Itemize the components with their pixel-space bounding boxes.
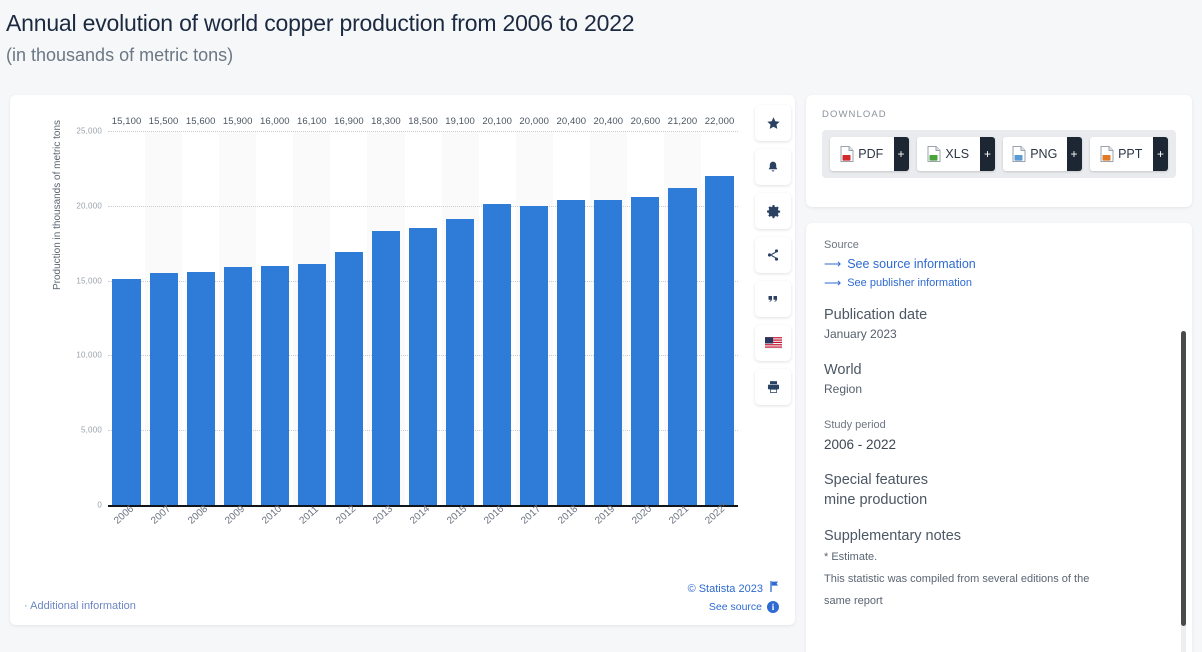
bar-value-label: 20,400 (594, 116, 624, 127)
x-axis-slot: 2017 (516, 511, 553, 557)
bar-slot: 15,100 (108, 131, 145, 505)
bar-value-label: 15,900 (223, 116, 253, 127)
publication-date-label: Publication date (824, 305, 1172, 325)
quote-icon[interactable] (755, 281, 791, 317)
bar-slot: 20,600 (627, 131, 664, 505)
arrow-right-icon: ⟶ (824, 277, 841, 289)
download-ppt-main[interactable]: PPT (1090, 137, 1154, 171)
bar-value-label: 18,500 (408, 116, 438, 127)
publication-date-block: Publication date January 2023 (824, 305, 1172, 344)
bar-slot: 20,400 (590, 131, 627, 505)
x-axis-slot: 2009 (219, 511, 256, 557)
bar[interactable]: 16,900 (335, 252, 363, 505)
bar-value-label: 20,400 (556, 116, 586, 127)
download-xls-plus[interactable]: + (980, 137, 995, 171)
info-scrollbar-thumb[interactable] (1181, 331, 1186, 626)
download-png-label: PNG (1030, 147, 1057, 161)
download-pdf-plus[interactable]: + (894, 137, 909, 171)
supplementary-notes-block: Supplementary notes * Estimate. This sta… (824, 526, 1172, 612)
copyright-label: © Statista 2023 (688, 583, 763, 595)
bar-slot: 21,200 (664, 131, 701, 505)
chart-footer: © Statista 2023 See source i (688, 581, 779, 613)
download-xls-main[interactable]: XLS (917, 137, 981, 171)
bar[interactable]: 15,600 (187, 272, 215, 505)
x-axis-slot: 2020 (627, 511, 664, 557)
download-xls-button[interactable]: XLS+ (917, 137, 996, 171)
special-features-block: Special features mine production (824, 470, 1172, 510)
share-icon[interactable] (755, 237, 791, 273)
region-label: Region (824, 380, 1172, 399)
x-axis-slot: 2012 (330, 511, 367, 557)
chart-card: Production in thousands of metric tons 0… (10, 95, 795, 625)
bar[interactable]: 20,000 (520, 206, 548, 505)
bell-icon[interactable] (755, 149, 791, 185)
bar-value-label: 15,100 (112, 116, 142, 127)
study-period-value: 2006 - 2022 (824, 435, 1172, 454)
bar-series: 15,10015,50015,60015,90016,00016,10016,9… (108, 131, 738, 505)
flag-us-icon[interactable] (755, 325, 791, 361)
download-ppt-plus[interactable]: + (1153, 137, 1168, 171)
statista-chart-page: Annual evolution of world copper product… (0, 0, 1202, 652)
info-scrollbar-track[interactable] (1181, 331, 1186, 652)
x-axis-slot: 2016 (479, 511, 516, 557)
bar-value-label: 16,900 (334, 116, 364, 127)
x-axis-slot: 2013 (367, 511, 404, 557)
bar-slot: 20,100 (479, 131, 516, 505)
supplementary-note-line-2: same report (824, 590, 1172, 612)
supplementary-notes-label: Supplementary notes (824, 526, 1172, 546)
x-axis-slot: 2010 (256, 511, 293, 557)
bar-value-label: 22,000 (705, 116, 735, 127)
bar-slot: 18,500 (405, 131, 442, 505)
bar-slot: 20,400 (553, 131, 590, 505)
flag-icon[interactable] (770, 581, 779, 595)
x-axis-slot: 2011 (293, 511, 330, 557)
bar[interactable]: 20,400 (594, 200, 622, 505)
additional-information-label: Additional information (30, 600, 136, 612)
info-icon[interactable]: i (767, 601, 779, 613)
print-icon[interactable] (755, 369, 791, 405)
download-heading: DOWNLOAD (822, 109, 1176, 120)
bar[interactable]: 20,100 (483, 204, 511, 505)
see-source-label: See source (709, 601, 762, 613)
download-pdf-main[interactable]: PDF (830, 137, 894, 171)
page-subtitle: (in thousands of metric tons) (6, 42, 1202, 68)
bar[interactable]: 19,100 (446, 219, 474, 505)
bar[interactable]: 15,100 (112, 279, 140, 505)
bar-value-label: 20,100 (482, 116, 512, 127)
y-axis-tick-label: 10,000 (76, 351, 102, 360)
x-axis-slot: 2021 (664, 511, 701, 557)
special-features-value: mine production (824, 490, 1172, 510)
favorite-star-button[interactable] (755, 105, 791, 141)
region-block: World Region (824, 360, 1172, 399)
x-axis-slot: 2006 (108, 511, 145, 557)
bar-value-label: 20,000 (519, 116, 549, 127)
arrow-right-icon: ⟶ (824, 258, 841, 270)
download-pdf-button[interactable]: PDF+ (830, 137, 909, 171)
x-axis-tick-labels: 2006200720082009201020112012201320142015… (108, 511, 738, 557)
bar[interactable]: 20,400 (557, 200, 585, 505)
bar-value-label: 19,100 (445, 116, 475, 127)
download-card: DOWNLOAD PDF+XLS+PNG+PPT+ (806, 95, 1192, 207)
additional-information-link[interactable]: · Additional information (24, 600, 136, 612)
chart-toolbar (755, 105, 791, 405)
publication-date-value: January 2023 (824, 325, 1172, 344)
x-axis-slot: 2018 (553, 511, 590, 557)
x-axis-slot: 2022* (701, 511, 738, 557)
bar-slot: 15,500 (145, 131, 182, 505)
bar[interactable]: 15,500 (150, 273, 178, 505)
plot-area: Production in thousands of metric tons 0… (10, 95, 745, 565)
study-period-label: Study period (824, 415, 1172, 435)
bar-slot: 22,000 (701, 131, 738, 505)
download-png-button[interactable]: PNG+ (1003, 137, 1082, 171)
bar-slot: 15,900 (219, 131, 256, 505)
download-png-plus[interactable]: + (1067, 137, 1082, 171)
bar[interactable]: 15,900 (224, 267, 252, 505)
source-label: Source (824, 239, 1172, 251)
region-value: World (824, 360, 1172, 380)
study-period-block: Study period 2006 - 2022 (824, 415, 1172, 454)
x-axis-slot: 2014 (405, 511, 442, 557)
bar[interactable]: 20,600 (631, 197, 659, 505)
page-title: Annual evolution of world copper product… (6, 8, 1202, 38)
bar[interactable]: 16,000 (261, 266, 289, 505)
y-axis-tick-label: 20,000 (76, 201, 102, 210)
x-axis-slot: 2019 (590, 511, 627, 557)
pdf-file-icon (840, 146, 854, 162)
ppt-file-icon (1100, 146, 1114, 162)
x-axis-slot: 2015 (442, 511, 479, 557)
bar[interactable]: 16,100 (298, 264, 326, 505)
bar-value-label: 18,300 (371, 116, 401, 127)
bar-value-label: 16,000 (260, 116, 290, 127)
bar-value-label: 15,500 (149, 116, 179, 127)
special-features-label: Special features (824, 470, 1172, 490)
x-axis-slot: 2008 (182, 511, 219, 557)
bar-value-label: 21,200 (668, 116, 698, 127)
download-ppt-label: PPT (1118, 147, 1142, 161)
bar-slot: 19,100 (442, 131, 479, 505)
download-ppt-button[interactable]: PPT+ (1090, 137, 1169, 171)
bar-value-label: 16,100 (297, 116, 327, 127)
bar-slot: 18,300 (367, 131, 404, 505)
bar-slot: 20,000 (516, 131, 553, 505)
see-source-information-label: See source information (847, 257, 976, 271)
bar[interactable]: 22,000 (705, 176, 733, 505)
bar-value-label: 20,600 (631, 116, 661, 127)
y-axis-tick-label: 0 (97, 501, 102, 510)
y-axis-tick-label: 15,000 (76, 276, 102, 285)
download-button-group: PDF+XLS+PNG+PPT+ (822, 130, 1176, 178)
bar[interactable]: 21,200 (668, 188, 696, 505)
see-source-link[interactable]: See source i (688, 601, 779, 613)
gear-icon[interactable] (755, 193, 791, 229)
bar-value-label: 15,600 (186, 116, 216, 127)
supplementary-note-estimate: * Estimate. (824, 546, 1172, 568)
y-axis-tick-label: 5,000 (81, 426, 102, 435)
bar-slot: 15,600 (182, 131, 219, 505)
bar-slot: 16,000 (256, 131, 293, 505)
y-axis-tick-label: 25,000 (76, 127, 102, 136)
xls-file-icon (927, 146, 941, 162)
download-xls-label: XLS (945, 147, 969, 161)
download-pdf-label: PDF (858, 147, 883, 161)
copyright-text: © Statista 2023 (688, 581, 779, 595)
see-source-information-link[interactable]: ⟶ See source information (824, 257, 1172, 271)
supplementary-note-line-1: This statistic was compiled from several… (824, 568, 1172, 590)
see-publisher-information-link[interactable]: ⟶ See publisher information (824, 277, 1172, 289)
see-publisher-information-label: See publisher information (847, 277, 972, 289)
png-file-icon (1012, 146, 1026, 162)
page-header: Annual evolution of world copper product… (0, 0, 1202, 68)
bar[interactable]: 18,300 (372, 231, 400, 505)
bar-slot: 16,100 (293, 131, 330, 505)
download-png-main[interactable]: PNG (1003, 137, 1067, 171)
info-card: Source ⟶ See source information ⟶ See pu… (806, 223, 1192, 652)
y-axis-tick-labels: 05,00010,00015,00020,00025,000 (56, 95, 102, 515)
x-axis-slot: 2007 (145, 511, 182, 557)
bar-slot: 16,900 (330, 131, 367, 505)
bar[interactable]: 18,500 (409, 228, 437, 505)
x-axis-tick-label: 2011 (297, 504, 320, 527)
